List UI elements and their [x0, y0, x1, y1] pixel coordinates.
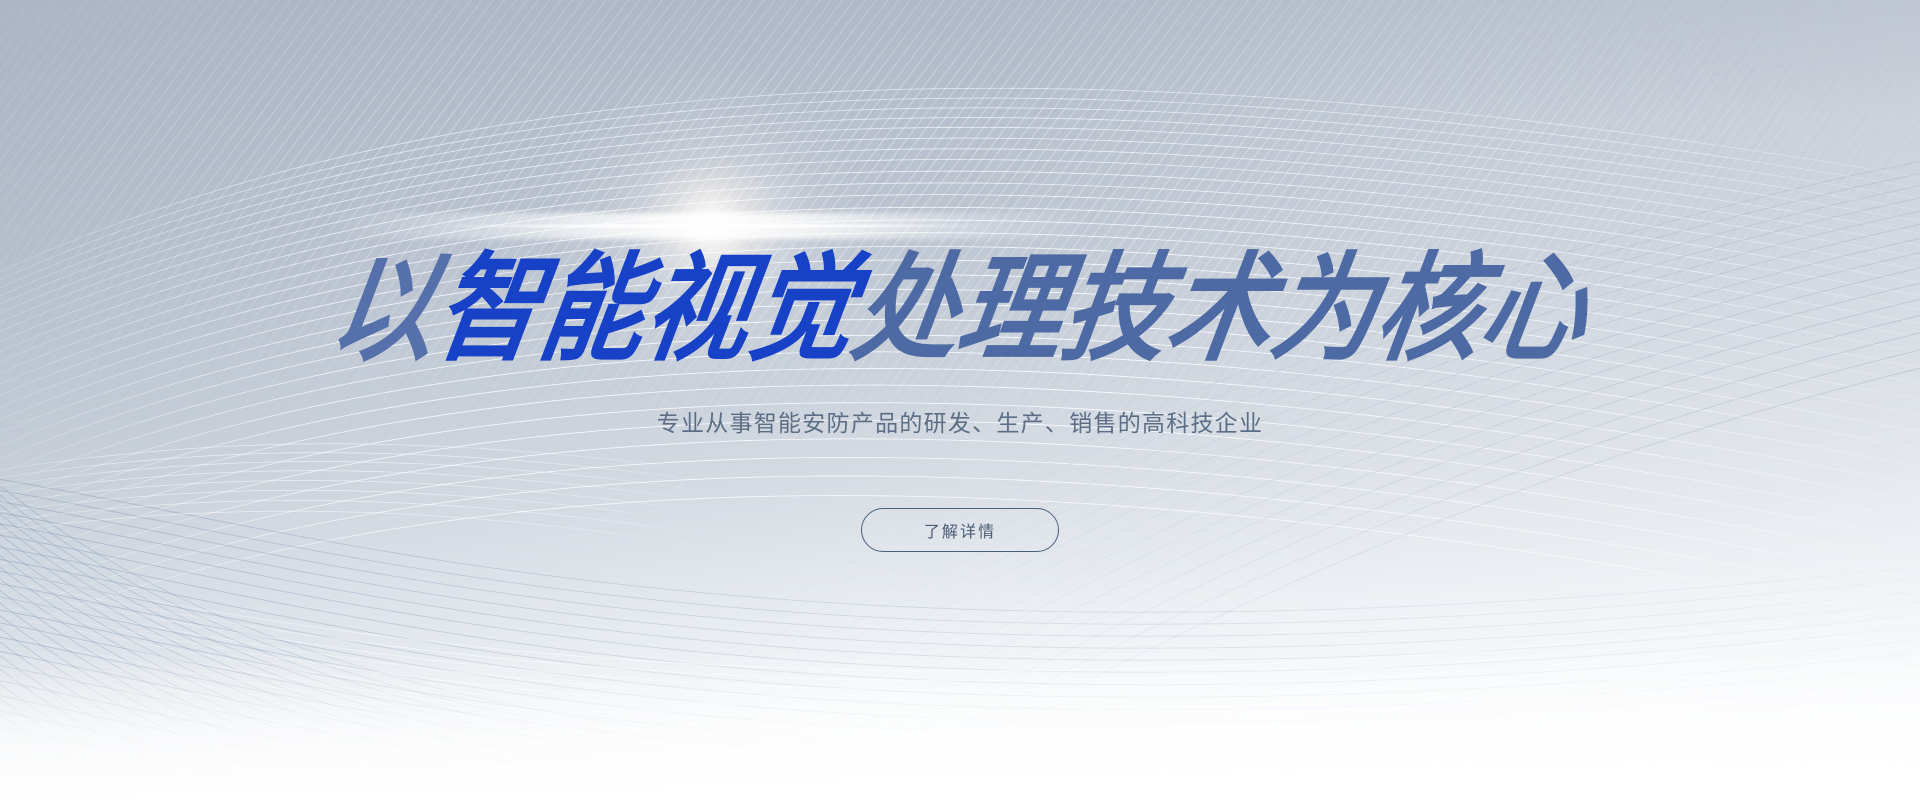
hero-content: 以智能视觉处理技术为核心 专业从事智能安防产品的研发、生产、销售的高科技企业 了… — [0, 0, 1920, 800]
headline-segment-trailing: 处理技术为核心 — [846, 251, 1596, 369]
headline-segment-leading: 以 — [324, 251, 447, 369]
cta-container: 了解详情 — [0, 508, 1920, 552]
hero-banner: 以智能视觉处理技术为核心 专业从事智能安防产品的研发、生产、销售的高科技企业 了… — [0, 0, 1920, 800]
hero-subtitle: 专业从事智能安防产品的研发、生产、销售的高科技企业 — [0, 404, 1920, 438]
learn-more-button[interactable]: 了解详情 — [861, 508, 1059, 552]
headline-segment-accent: 智能视觉 — [428, 251, 865, 369]
page-title: 以智能视觉处理技术为核心 — [0, 258, 1920, 362]
